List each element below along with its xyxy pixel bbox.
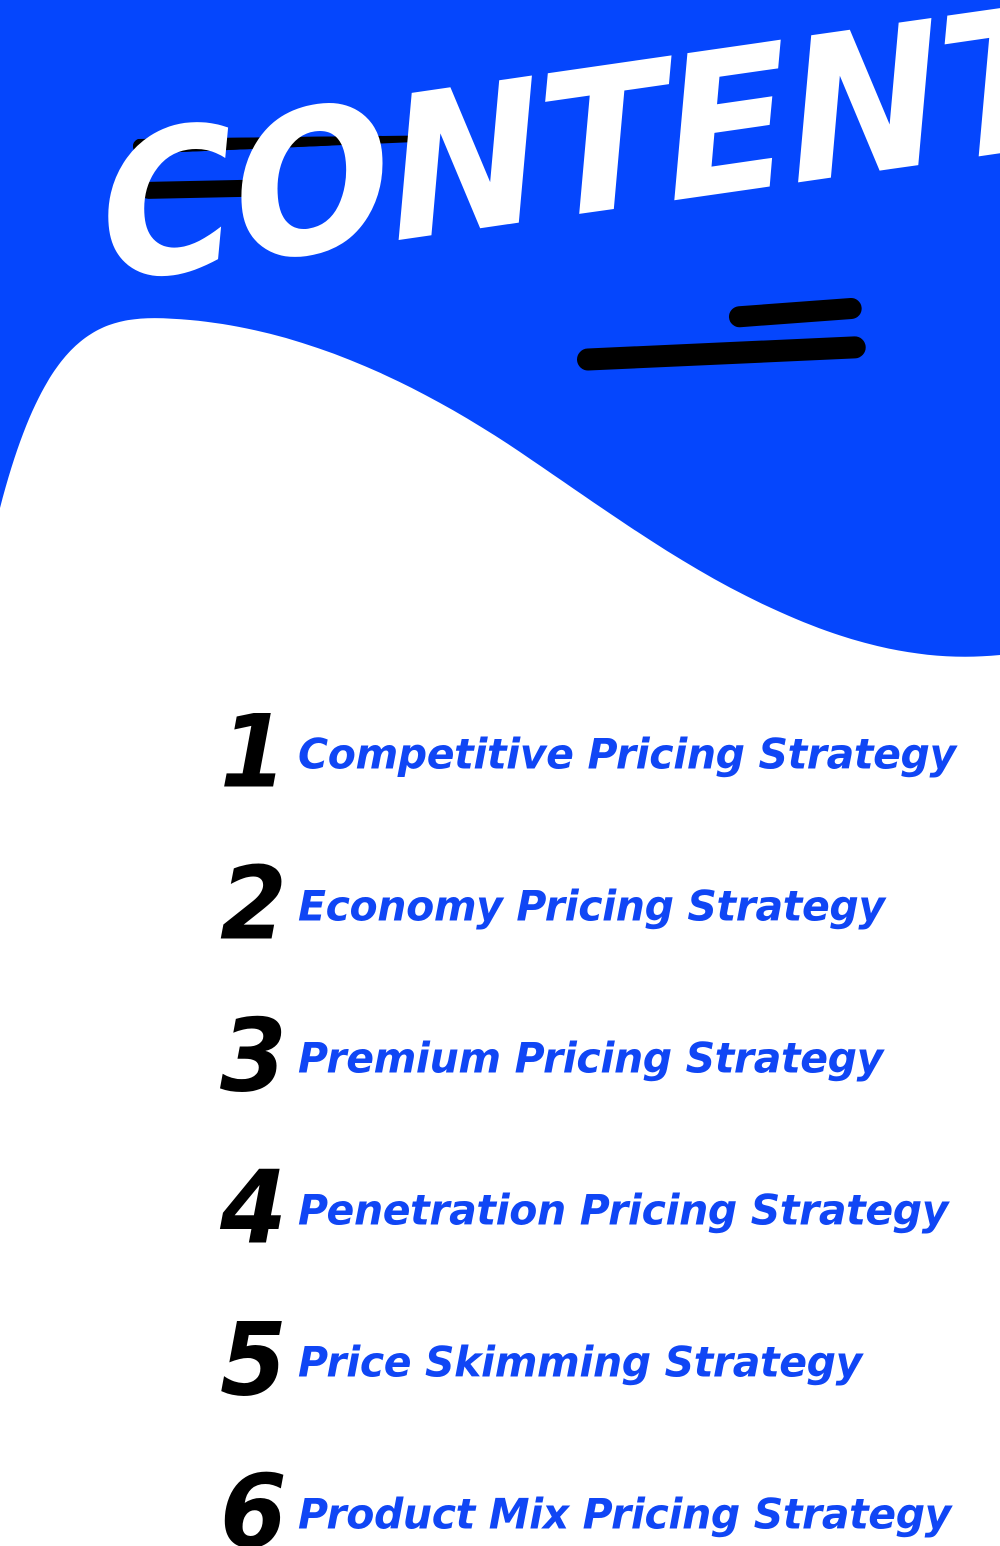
toc-number: 6	[220, 1462, 292, 1546]
list-item[interactable]: 2 Economy Pricing Strategy	[0, 828, 1000, 980]
toc-number: 1	[220, 702, 292, 803]
list-item[interactable]: 6 Product Mix Pricing Strategy	[0, 1436, 1000, 1546]
list-item[interactable]: 5 Price Skimming Strategy	[0, 1284, 1000, 1436]
list-item[interactable]: 4 Penetration Pricing Strategy	[0, 1132, 1000, 1284]
toc-label[interactable]: Price Skimming Strategy	[298, 1341, 862, 1383]
toc-label[interactable]: Penetration Pricing Strategy	[298, 1189, 948, 1231]
toc-label[interactable]: Economy Pricing Strategy	[298, 885, 885, 927]
contents-page: CONTENTS 1 Competitive Pricing Strategy …	[0, 0, 1000, 1546]
toc-number: 3	[220, 1006, 292, 1107]
table-of-contents: 1 Competitive Pricing Strategy 2 Economy…	[0, 676, 1000, 1546]
list-item[interactable]: 1 Competitive Pricing Strategy	[0, 676, 1000, 828]
toc-number: 2	[220, 854, 292, 955]
toc-label[interactable]: Product Mix Pricing Strategy	[298, 1493, 951, 1535]
toc-number: 5	[220, 1310, 292, 1411]
toc-label[interactable]: Premium Pricing Strategy	[298, 1037, 883, 1079]
toc-number: 4	[220, 1158, 292, 1259]
toc-label[interactable]: Competitive Pricing Strategy	[298, 733, 956, 775]
decorative-stroke-top-short	[140, 180, 252, 199]
list-item[interactable]: 3 Premium Pricing Strategy	[0, 980, 1000, 1132]
